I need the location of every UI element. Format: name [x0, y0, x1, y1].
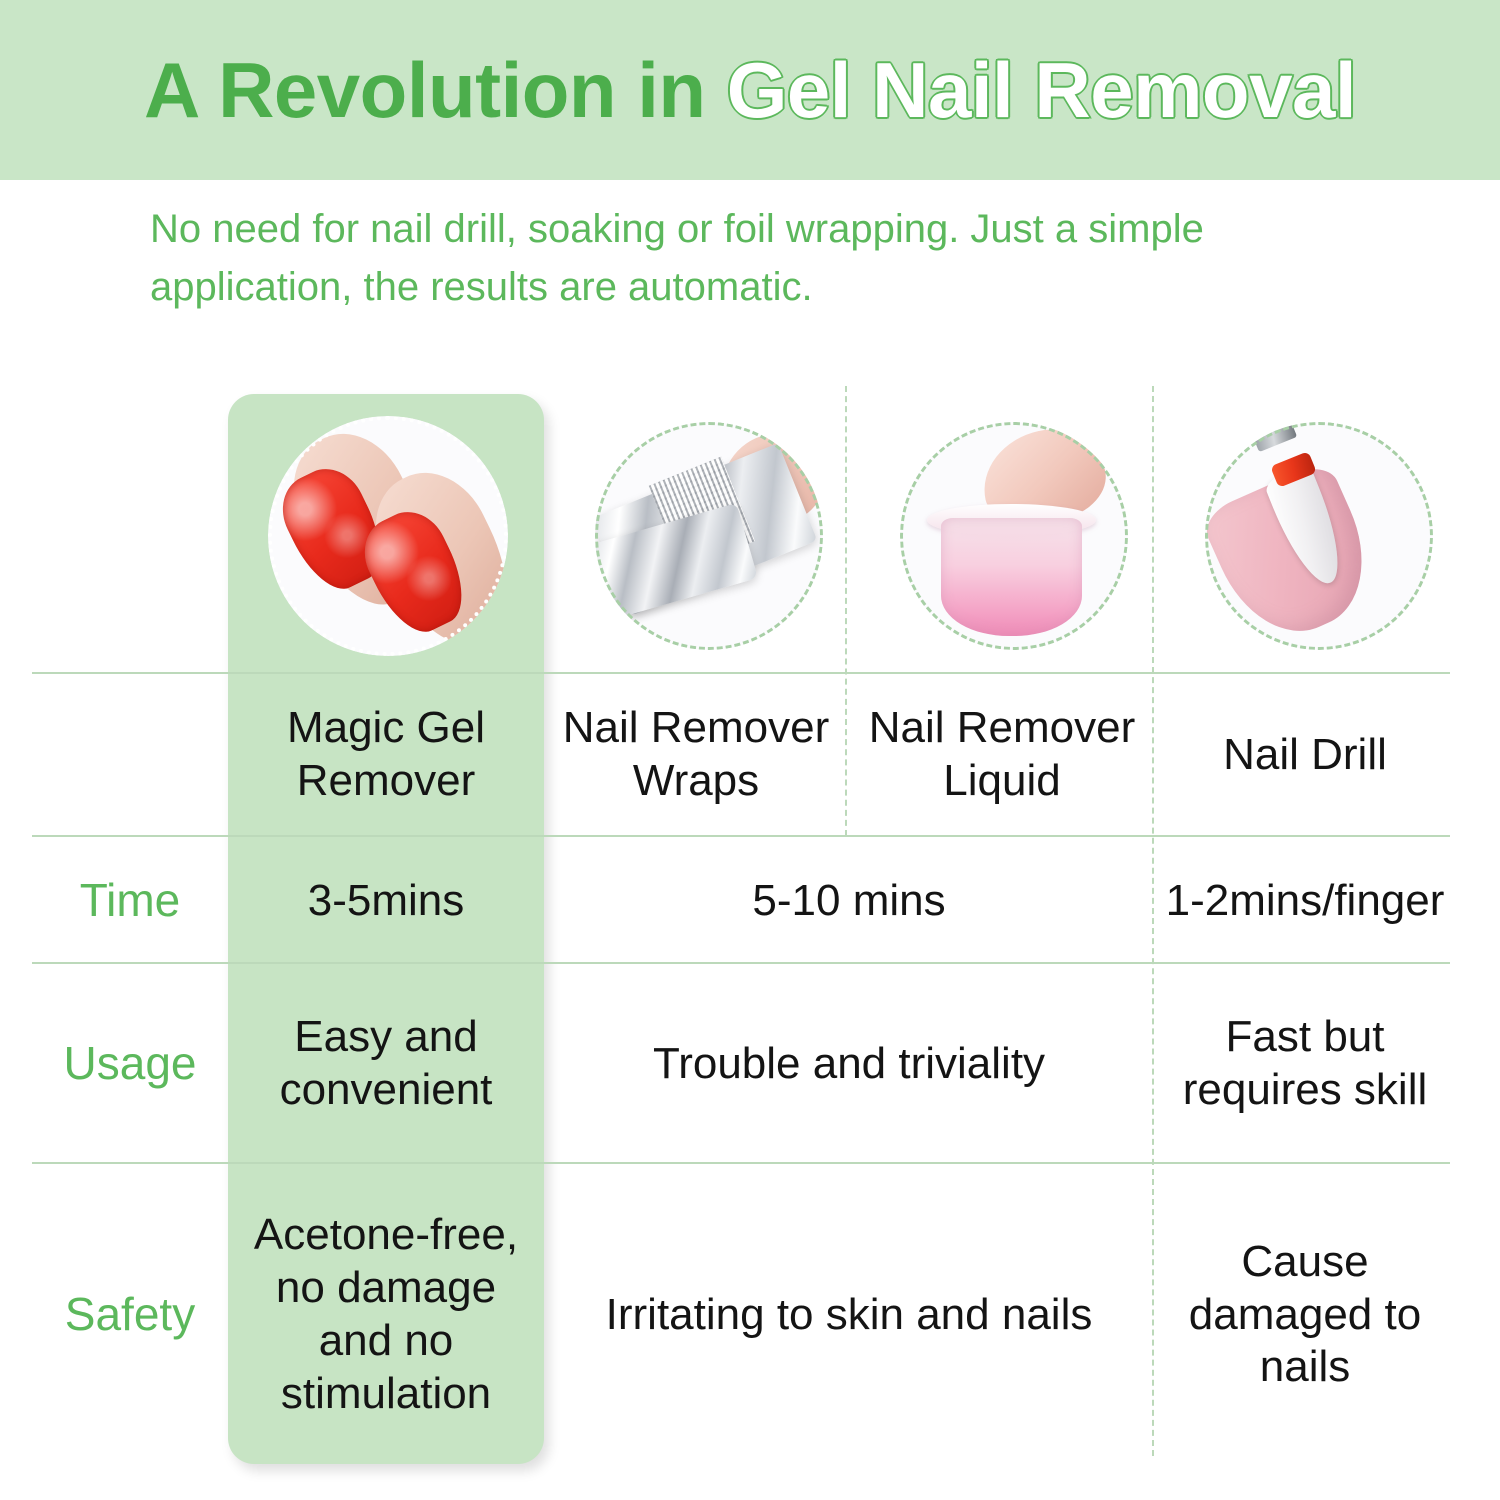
header-banner: A Revolution in Gel Nail Removal — [0, 0, 1500, 180]
comparison-table: Magic Gel Remover Nail Remover Wraps Nai… — [0, 380, 1500, 1480]
row-label-time: Time — [32, 842, 228, 960]
page-title-lead: A Revolution in — [144, 46, 727, 134]
cell-usage-magic-gel-remover: Easy and convenient — [240, 970, 532, 1158]
cell-safety-wraps-and-liquid: Irritating to skin and nails — [552, 1170, 1146, 1460]
row-label-usage: Usage — [32, 970, 228, 1158]
photo-inner-3 — [900, 422, 1128, 650]
row-label-safety: Safety — [32, 1170, 228, 1460]
photo-inner-2 — [595, 422, 823, 650]
column-header-magic-gel-remover: Magic Gel Remover — [232, 680, 540, 830]
cell-usage-wraps-and-liquid: Trouble and triviality — [552, 970, 1146, 1158]
nail-drill-bit-photo — [1205, 422, 1433, 650]
photo-inner-1 — [268, 416, 508, 656]
cell-time-magic-gel-remover: 3-5mins — [232, 842, 540, 960]
cell-time-wraps-and-liquid: 5-10 mins — [552, 842, 1146, 960]
cell-usage-nail-drill: Fast but requires skill — [1166, 970, 1444, 1158]
cell-safety-magic-gel-remover: Acetone-free, no damage and no stimulati… — [244, 1170, 528, 1460]
column-header-nail-drill: Nail Drill — [1160, 680, 1450, 830]
column-header-nail-remover-liquid: Nail Remover Liquid — [858, 680, 1146, 830]
column-header-nail-remover-wraps: Nail Remover Wraps — [552, 680, 840, 830]
pink-liquid-jar-photo — [900, 422, 1128, 650]
foil-wrap-photo — [595, 422, 823, 650]
photo-inner-4 — [1205, 422, 1433, 650]
subtitle-text: No need for nail drill, soaking or foil … — [150, 200, 1400, 316]
page-title-emphasis: Gel Nail Removal — [727, 46, 1356, 134]
page-title: A Revolution in Gel Nail Removal — [144, 51, 1356, 129]
cell-safety-nail-drill: Cause damaged to nails — [1166, 1170, 1444, 1460]
jar-body — [941, 518, 1082, 637]
nails-with-red-gel-lifting-photo — [268, 416, 508, 656]
cell-time-nail-drill: 1-2mins/finger — [1160, 842, 1450, 960]
